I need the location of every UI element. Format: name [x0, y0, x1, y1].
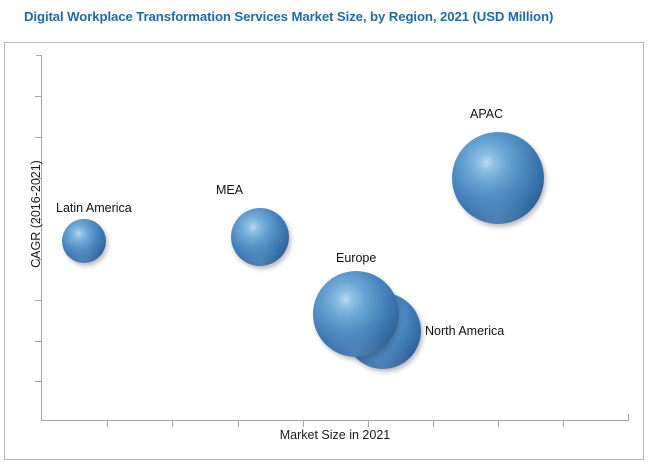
chart-frame: [4, 42, 644, 460]
chart-page: Digital Workplace Transformation Service…: [0, 0, 650, 467]
page-title: Digital Workplace Transformation Service…: [24, 9, 634, 25]
